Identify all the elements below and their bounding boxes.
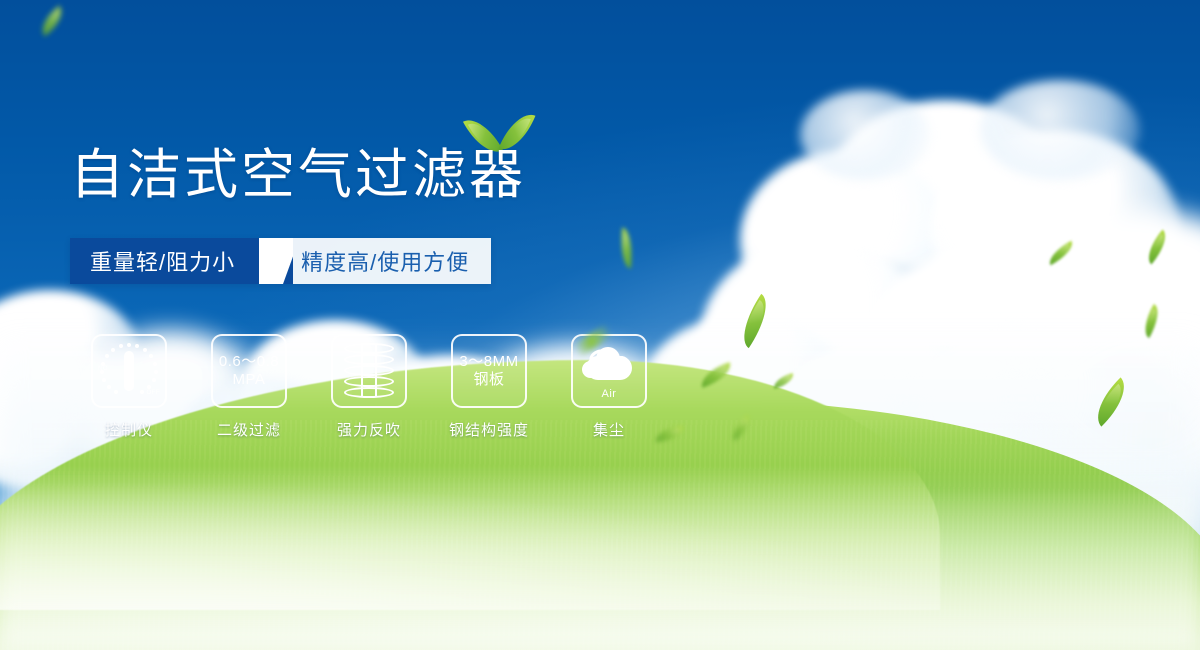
subtitle-right-segment: 精度高/使用方便: [293, 238, 491, 284]
filter-cartridge-icon: [344, 343, 394, 399]
feature-icon-box: 0.6～0.8 MPA: [211, 334, 287, 408]
feature-label: 强力反吹: [337, 419, 401, 440]
banner-subtitle-bar: 重量轻/阻力小 精度高/使用方便: [70, 238, 491, 284]
feature-item[interactable]: Air 集尘: [550, 334, 668, 440]
feature-label: 二级过滤: [217, 419, 281, 440]
feature-label: 钢结构强度: [449, 419, 529, 440]
dial-off-label: OFF: [147, 390, 161, 396]
feature-item[interactable]: 强力反吹: [310, 334, 428, 440]
feature-item[interactable]: 0.6～0.8 MPA 二级过滤: [190, 334, 308, 440]
banner-title: 自洁式空气过滤器: [70, 146, 526, 204]
feature-icon-box: NO OFF: [91, 334, 167, 408]
steel-plate-text-icon: 3～8MM 钢板: [459, 353, 518, 390]
dial-needle: [124, 351, 134, 391]
feature-label: 控制仪: [105, 419, 153, 440]
feature-item[interactable]: 3～8MM 钢板 钢结构强度: [430, 334, 548, 440]
feature-icon-box: 3～8MM 钢板: [451, 334, 527, 408]
banner-content: 自洁式空气过滤器 重量轻/阻力小 精度高/使用方便: [0, 0, 1200, 650]
product-banner: 自洁式空气过滤器 重量轻/阻力小 精度高/使用方便: [0, 0, 1200, 650]
feature-label: 集尘: [593, 419, 625, 440]
dial-no-label: NO: [98, 366, 108, 372]
air-cloud-icon: [580, 342, 638, 386]
control-dial-icon: NO OFF: [99, 342, 159, 400]
feature-icon-box: [331, 334, 407, 408]
subtitle-left-segment: 重量轻/阻力小: [70, 238, 259, 284]
feature-icon-box: Air: [571, 334, 647, 408]
pressure-text-icon: 0.6～0.8 MPA: [219, 353, 279, 390]
feature-list: NO OFF 控制仪 0.6～0.8 MPA 二级过滤: [70, 334, 668, 440]
feature-item[interactable]: NO OFF 控制仪: [70, 334, 188, 440]
air-label: Air: [602, 388, 617, 400]
subtitle-diagonal-divider: [259, 238, 293, 284]
